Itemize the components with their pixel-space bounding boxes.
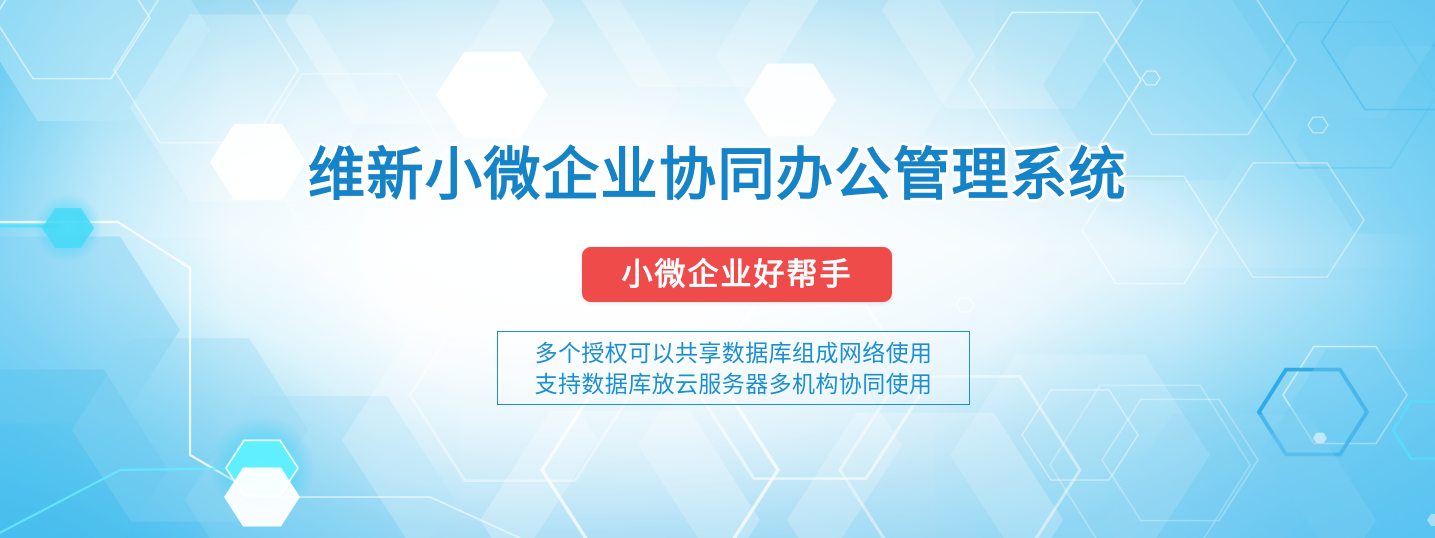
feature-info-line-2: 支持数据库放云服务器多机构协同使用 bbox=[535, 369, 933, 400]
tagline-badge: 小微企业好帮手 bbox=[582, 247, 892, 302]
banner-content: 维新小微企业协同办公管理系统 小微企业好帮手 多个授权可以共享数据库组成网络使用… bbox=[0, 0, 1435, 538]
feature-info-box: 多个授权可以共享数据库组成网络使用 支持数据库放云服务器多机构协同使用 bbox=[497, 331, 970, 405]
tagline-badge-label: 小微企业好帮手 bbox=[622, 259, 853, 290]
promo-banner: 维新小微企业协同办公管理系统 小微企业好帮手 多个授权可以共享数据库组成网络使用… bbox=[0, 0, 1435, 538]
feature-info-line-1: 多个授权可以共享数据库组成网络使用 bbox=[535, 338, 933, 369]
page-title: 维新小微企业协同办公管理系统 bbox=[0, 141, 1435, 209]
